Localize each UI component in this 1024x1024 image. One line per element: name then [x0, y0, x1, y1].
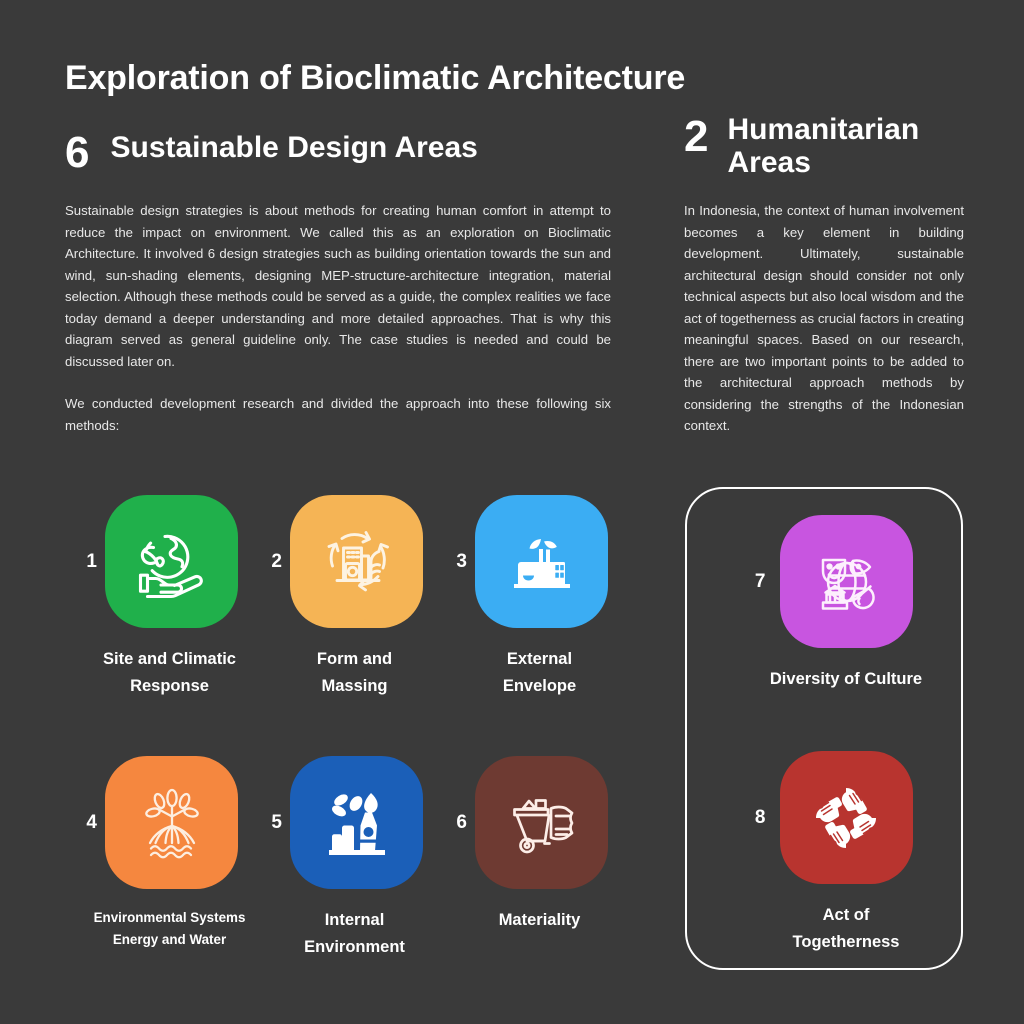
body-text-left: Sustainable design strategies is about m… — [65, 200, 611, 436]
body-text-right: In Indonesia, the context of human invol… — [684, 200, 964, 437]
design-area-6-label: Materiality — [469, 907, 581, 934]
section-title-left: Sustainable Design Areas — [110, 131, 477, 164]
hand-holding-globe-leaf-icon — [130, 520, 214, 604]
design-area-3-tile[interactable] — [475, 495, 608, 628]
design-area-1-label: Site and Climatic Response — [73, 646, 236, 700]
paragraph-right-1: In Indonesia, the context of human invol… — [684, 200, 964, 437]
design-areas-row-2: 4 — [62, 756, 662, 961]
design-area-2-number: 2 — [256, 551, 282, 573]
design-area-6-tile[interactable] — [475, 756, 608, 889]
humanitarian-area-7-label-line1: Diversity of Culture — [770, 670, 922, 688]
page-title: Exploration of Bioclimatic Architecture — [65, 59, 685, 98]
design-area-card-6[interactable]: 6 — [432, 756, 617, 961]
humanitarian-areas-panel: 7 — [685, 487, 963, 970]
humanitarian-area-7-top: 7 — [687, 515, 965, 648]
paragraph-left-1: Sustainable design strategies is about m… — [65, 200, 611, 372]
humanitarian-area-7-tile[interactable] — [780, 515, 913, 648]
design-area-1-top: 1 — [62, 495, 247, 628]
humanitarian-area-8-tile[interactable] — [780, 751, 913, 884]
design-area-1-tile[interactable] — [105, 495, 238, 628]
humanitarian-area-card-8[interactable]: 8 — [687, 751, 965, 956]
humanitarian-area-7-number: 7 — [740, 571, 766, 593]
design-area-5-label-line1: Internal — [325, 911, 385, 929]
design-area-2-label-line2: Massing — [321, 677, 387, 695]
section-heading-sustainable: 6 Sustainable Design Areas — [65, 131, 478, 175]
culture-mask-globe-temple-icon — [803, 539, 889, 625]
design-area-card-3[interactable]: 3 — [432, 495, 617, 700]
wheelbarrow-cement-bag-icon — [500, 781, 584, 865]
section-title-right: Humanitarian Areas — [727, 113, 942, 179]
design-area-2-top: 2 — [247, 495, 432, 628]
design-area-1-label-line1: Site and Climatic — [103, 650, 236, 668]
design-area-4-label-line1: Environmental Systems — [94, 910, 246, 925]
humanitarian-area-8-top: 8 — [687, 751, 965, 884]
humanitarian-area-8-label-line2: Togetherness — [793, 933, 900, 951]
design-area-4-top: 4 — [62, 756, 247, 889]
humanitarian-area-8-number: 8 — [740, 807, 766, 829]
factory-leaf-chimney-icon — [501, 521, 583, 603]
design-areas-grid: 1 — [62, 495, 662, 961]
design-area-5-number: 5 — [256, 812, 282, 834]
mangrove-roots-water-icon — [130, 781, 214, 865]
design-area-5-label-line2: Environment — [304, 938, 405, 956]
design-area-2-label: Form and Massing — [287, 646, 392, 700]
section-count-right: 2 — [684, 113, 708, 161]
design-area-1-number: 1 — [71, 551, 97, 573]
design-area-4-label: Environmental Systems Energy and Water — [64, 907, 246, 951]
design-area-6-top: 6 — [432, 756, 617, 889]
section-heading-humanitarian: 2 Humanitarian Areas — [684, 113, 974, 179]
design-area-6-number: 6 — [441, 812, 467, 834]
infographic-page: Exploration of Bioclimatic Architecture … — [0, 0, 1024, 1024]
design-area-3-label: External Envelope — [473, 646, 576, 700]
design-area-4-label-line2: Energy and Water — [113, 932, 226, 947]
design-area-2-tile[interactable] — [290, 495, 423, 628]
design-area-card-1[interactable]: 1 — [62, 495, 247, 700]
design-area-card-2[interactable]: 2 — [247, 495, 432, 700]
design-area-3-top: 3 — [432, 495, 617, 628]
humanitarian-area-8-label-line1: Act of — [823, 906, 870, 924]
humanitarian-area-8-label: Act of Togetherness — [753, 902, 900, 956]
design-area-3-label-line2: Envelope — [503, 677, 576, 695]
design-areas-row-1: 1 — [62, 495, 662, 700]
design-area-5-tile[interactable] — [290, 756, 423, 889]
four-hands-circle-icon — [803, 775, 889, 861]
design-area-3-number: 3 — [441, 551, 467, 573]
humanitarian-area-7-label: Diversity of Culture — [730, 666, 922, 693]
factory-leaves-solid-icon — [315, 781, 399, 865]
design-area-1-label-line2: Response — [130, 677, 209, 695]
design-area-5-top: 5 — [247, 756, 432, 889]
design-area-4-number: 4 — [71, 812, 97, 834]
design-area-6-label-line1: Materiality — [499, 911, 581, 929]
design-area-card-4[interactable]: 4 — [62, 756, 247, 961]
section-count-left: 6 — [65, 131, 89, 175]
building-recycle-arrows-icon — [317, 522, 397, 602]
design-area-card-5[interactable]: 5 — [247, 756, 432, 961]
paragraph-left-2: We conducted development research and di… — [65, 393, 611, 436]
humanitarian-area-card-7[interactable]: 7 — [687, 515, 965, 693]
design-area-2-label-line1: Form and — [317, 650, 392, 668]
design-area-4-tile[interactable] — [105, 756, 238, 889]
design-area-5-label: Internal Environment — [274, 907, 405, 961]
design-area-3-label-line1: External — [507, 650, 572, 668]
